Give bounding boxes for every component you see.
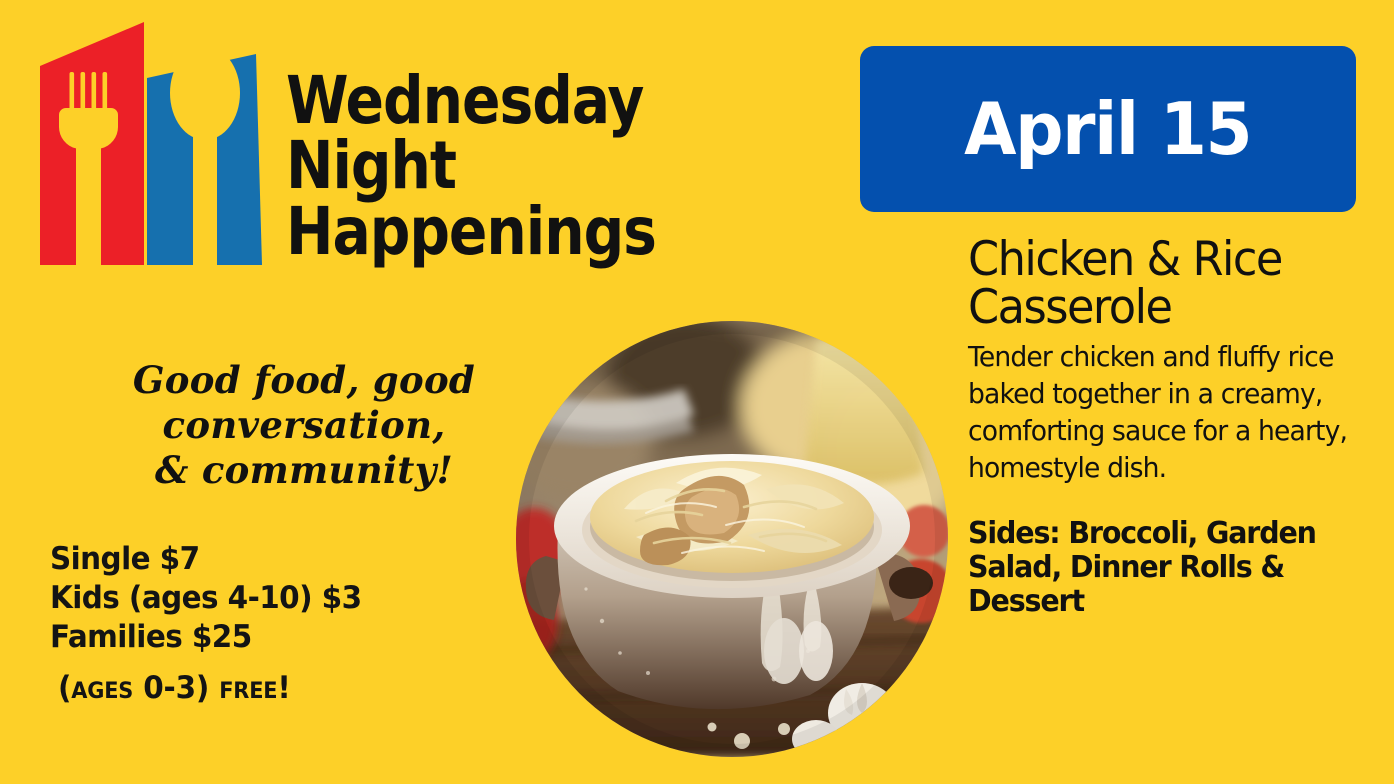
price-free-note: (Ages 0-3) Free! [58,670,468,707]
price-kids: Kids (ages 4-10) $3 [50,579,468,618]
tagline-line-1: Good food, good conversation, [24,358,584,448]
price-families: Families $25 [50,618,468,657]
dish-description: Tender chicken and fluffy rice baked tog… [968,339,1348,487]
pricing-block: Single $7 Kids (ages 4-10) $3 Families $… [50,540,490,707]
chicken-rice-casserole-photo [516,321,948,757]
menu-details: Chicken & Rice Casserole Tender chicken … [968,236,1380,619]
spoon-icon [147,54,262,265]
date-badge-label: April 15 [964,93,1251,165]
tagline-line-2: & community! [24,448,584,493]
date-badge: April 15 [860,46,1356,212]
title-line-2: Night [286,133,690,198]
title-line-3: Happenings [286,199,690,264]
dish-name: Chicken & Rice Casserole [968,236,1359,333]
page-title: Wednesday Night Happenings [286,68,690,264]
fork-and-spoon-logo [36,22,266,298]
price-single: Single $7 [50,540,468,579]
event-flyer: Wednesday Night Happenings Good food, go… [0,0,1394,784]
tagline: Good food, good conversation, & communit… [24,358,584,493]
title-line-1: Wednesday [286,68,690,133]
fork-icon [40,22,144,265]
sides-list: Sides: Broccoli, Garden Salad, Dinner Ro… [968,517,1367,620]
